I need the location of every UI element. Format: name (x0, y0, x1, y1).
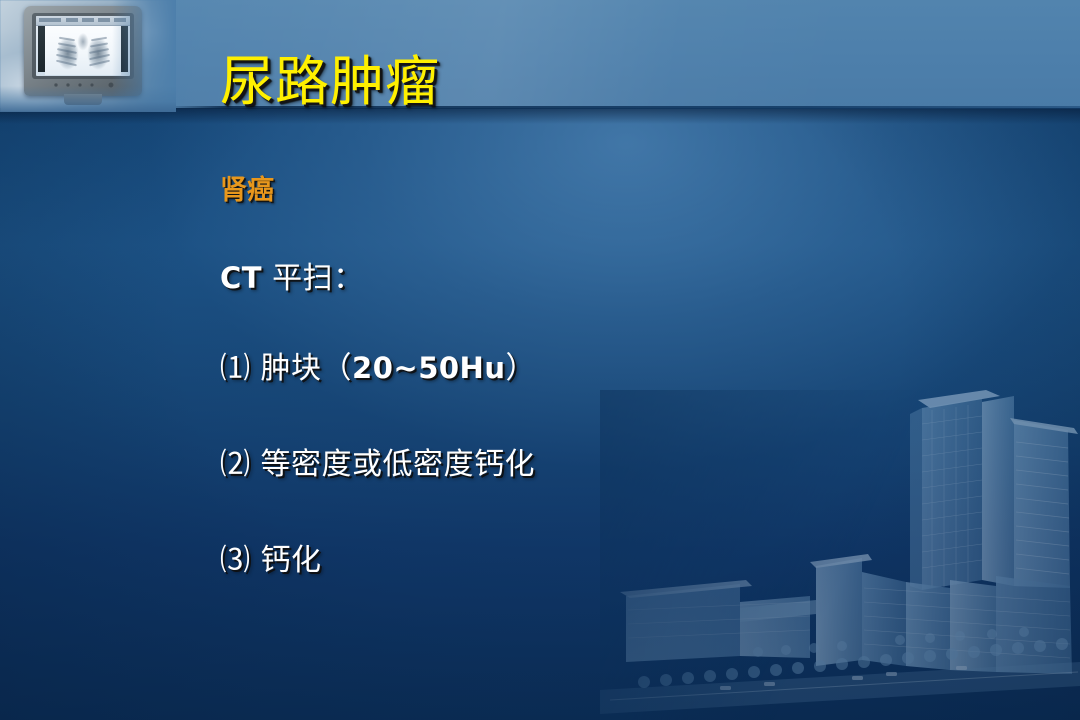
chest-xray-image (45, 26, 121, 75)
list-item-emphasis: 20~50Hu (352, 351, 505, 385)
list-item-text: 肿块（ (261, 351, 353, 386)
ct-scan-heading: CT 平扫： (220, 253, 1020, 297)
section-subheading: 肾癌 (220, 168, 1020, 207)
list-item-text: 等密度或低密度钙化 (261, 447, 536, 482)
list-item: ⑶ 钙化 (220, 535, 1020, 579)
ct-label-cjk: 平扫： (262, 261, 364, 296)
list-item-text-after: ） (505, 351, 536, 386)
xray-photo-collage (0, 0, 176, 112)
list-item: ⑵ 等密度或低密度钙化 (220, 439, 1020, 483)
page-title: 尿路肿瘤 (220, 54, 440, 111)
list-item-text: 钙化 (261, 543, 322, 578)
list-item-marker: ⑵ (220, 447, 261, 482)
collage-bottom-fade (0, 86, 176, 112)
list-item-marker: ⑶ (220, 543, 261, 578)
screen-left-shade (38, 26, 45, 72)
slide-body: 肾癌 CT 平扫： ⑴ 肿块（20~50Hu） ⑵ 等密度或低密度钙化 ⑶ 钙化 (220, 168, 1020, 579)
ct-label: CT (220, 261, 262, 295)
list-item: ⑴ 肿块（20~50Hu） (220, 343, 1020, 387)
list-item-marker: ⑴ (220, 351, 261, 386)
presentation-slide: 尿路肿瘤 肾癌 CT 平扫： ⑴ 肿块（20~50Hu） ⑵ 等密度或低密度钙化… (0, 0, 1080, 720)
